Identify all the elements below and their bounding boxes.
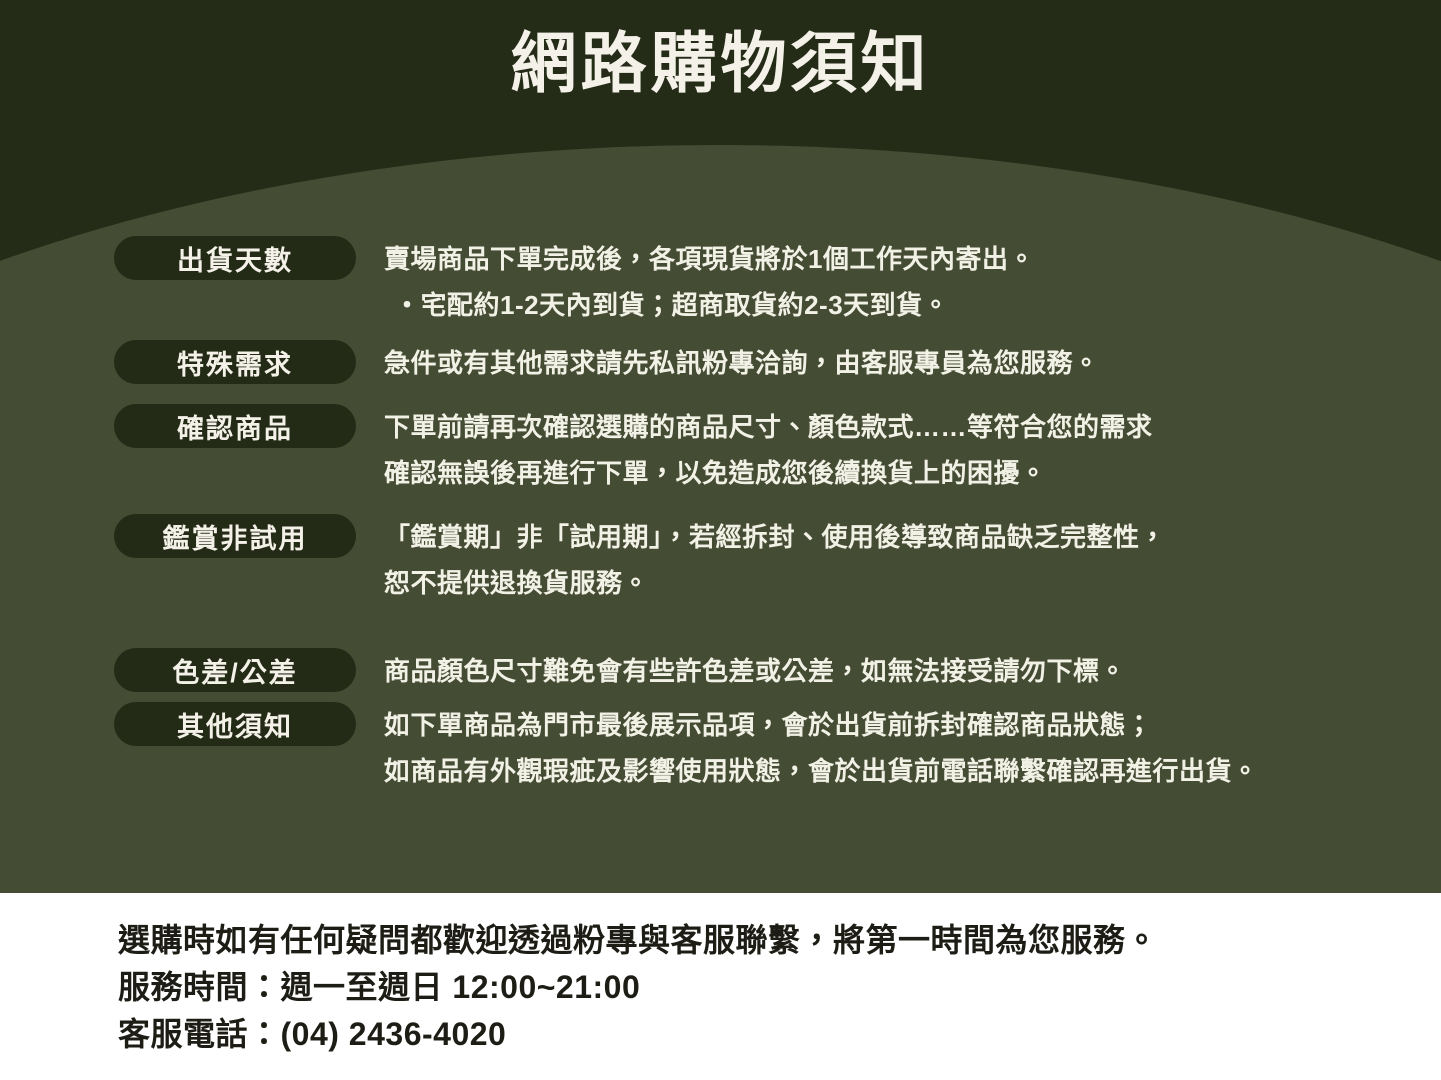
body-line: 急件或有其他需求請先私訊粉專洽詢，由客服專員為您服務。 <box>384 340 1441 386</box>
notice-row: 確認商品 下單前請再次確認選購的商品尺寸、顏色款式……等符合您的需求 確認無誤後… <box>0 404 1441 496</box>
notice-row: 色差/公差 商品顏色尺寸難免會有些許色差或公差，如無法接受請勿下標。 <box>0 648 1441 694</box>
notice-page: 網路購物須知 出貨天數 賣場商品下單完成後，各項現貨將於1個工作天內寄出。 ・宅… <box>0 0 1441 1080</box>
row-label-confirm-product: 確認商品 <box>114 404 356 448</box>
body-line: 恕不提供退換貨服務。 <box>384 560 1441 606</box>
page-title: 網路購物須知 <box>0 26 1441 102</box>
row-label-other-notices: 其他須知 <box>114 702 356 746</box>
notice-row: 鑑賞非試用 「鑑賞期」非「試用期」，若經拆封、使用後導致商品缺乏完整性， 恕不提… <box>0 514 1441 606</box>
body-line: ・宅配約1-2天內到貨；超商取貨約2-3天到貨。 <box>384 282 1441 328</box>
row-label-color-size-tolerance: 色差/公差 <box>114 648 356 692</box>
body-line: 確認無誤後再進行下單，以免造成您後續換貨上的困擾。 <box>384 450 1441 496</box>
notice-rows: 出貨天數 賣場商品下單完成後，各項現貨將於1個工作天內寄出。 ・宅配約1-2天內… <box>0 236 1441 794</box>
footer-line-phone: 客服電話：(04) 2436-4020 <box>118 1011 1441 1058</box>
body-line: 商品顏色尺寸難免會有些許色差或公差，如無法接受請勿下標。 <box>384 648 1441 694</box>
row-body-color-size-tolerance: 商品顏色尺寸難免會有些許色差或公差，如無法接受請勿下標。 <box>356 648 1441 694</box>
row-body-other-notices: 如下單商品為門市最後展示品項，會於出貨前拆封確認商品狀態； 如商品有外觀瑕疵及影… <box>356 702 1441 794</box>
row-body-inspection-not-trial: 「鑑賞期」非「試用期」，若經拆封、使用後導致商品缺乏完整性， 恕不提供退換貨服務… <box>356 514 1441 606</box>
row-body-shipping-days: 賣場商品下單完成後，各項現貨將於1個工作天內寄出。 ・宅配約1-2天內到貨；超商… <box>356 236 1441 328</box>
notice-row: 特殊需求 急件或有其他需求請先私訊粉專洽詢，由客服專員為您服務。 <box>0 340 1441 386</box>
body-line: 賣場商品下單完成後，各項現貨將於1個工作天內寄出。 <box>384 236 1441 282</box>
footer-line-service-hours: 服務時間：週一至週日 12:00~21:00 <box>118 964 1441 1011</box>
row-label-shipping-days: 出貨天數 <box>114 236 356 280</box>
notice-row: 出貨天數 賣場商品下單完成後，各項現貨將於1個工作天內寄出。 ・宅配約1-2天內… <box>0 236 1441 328</box>
footer-line-contact: 選購時如有任何疑問都歡迎透過粉專與客服聯繫，將第一時間為您服務。 <box>118 917 1441 964</box>
contact-footer: 選購時如有任何疑問都歡迎透過粉專與客服聯繫，將第一時間為您服務。 服務時間：週一… <box>0 893 1441 1080</box>
body-line: 如商品有外觀瑕疵及影響使用狀態，會於出貨前電話聯繫確認再進行出貨。 <box>384 748 1441 794</box>
row-label-special-request: 特殊需求 <box>114 340 356 384</box>
body-line: 下單前請再次確認選購的商品尺寸、顏色款式……等符合您的需求 <box>384 404 1441 450</box>
green-banner: 網路購物須知 出貨天數 賣場商品下單完成後，各項現貨將於1個工作天內寄出。 ・宅… <box>0 0 1441 893</box>
row-body-special-request: 急件或有其他需求請先私訊粉專洽詢，由客服專員為您服務。 <box>356 340 1441 386</box>
row-body-confirm-product: 下單前請再次確認選購的商品尺寸、顏色款式……等符合您的需求 確認無誤後再進行下單… <box>356 404 1441 496</box>
body-line: 如下單商品為門市最後展示品項，會於出貨前拆封確認商品狀態； <box>384 702 1441 748</box>
notice-row: 其他須知 如下單商品為門市最後展示品項，會於出貨前拆封確認商品狀態； 如商品有外… <box>0 702 1441 794</box>
row-label-inspection-not-trial: 鑑賞非試用 <box>114 514 356 558</box>
body-line: 「鑑賞期」非「試用期」，若經拆封、使用後導致商品缺乏完整性， <box>384 514 1441 560</box>
